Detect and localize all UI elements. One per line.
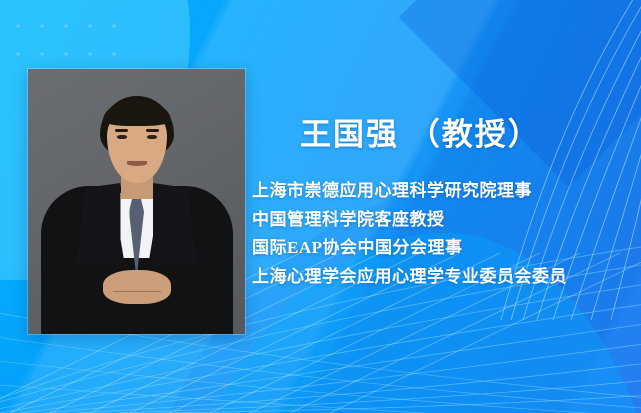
credential-line: 上海市崇德应用心理科学研究院理事 [252,181,567,201]
portrait-hand-crease [113,291,161,292]
credential-line: 上海心理学会应用心理学专业委员会委员 [252,267,567,287]
speaker-name-title: 王国强 （教授） [300,119,541,150]
credential-line: 国际EAP协会中国分会理事 [252,238,567,258]
portrait-hands [103,270,171,304]
speaker-portrait-photo [28,69,245,334]
portrait-eyebrow-right [146,129,159,132]
credential-line: 中国管理科学院客座教授 [252,210,567,230]
portrait-mouth [127,161,147,166]
speaker-credentials-list: 上海市崇德应用心理科学研究院理事 中国管理科学院客座教授 国际EAP协会中国分会… [252,181,567,286]
portrait-eye-left [117,135,127,139]
dot-grid-pattern [0,8,130,70]
slide-canvas: 王国强 （教授） 上海市崇德应用心理科学研究院理事 中国管理科学院客座教授 国际… [0,0,641,413]
portrait-eyebrow-left [115,129,128,132]
portrait-eye-right [147,135,157,139]
